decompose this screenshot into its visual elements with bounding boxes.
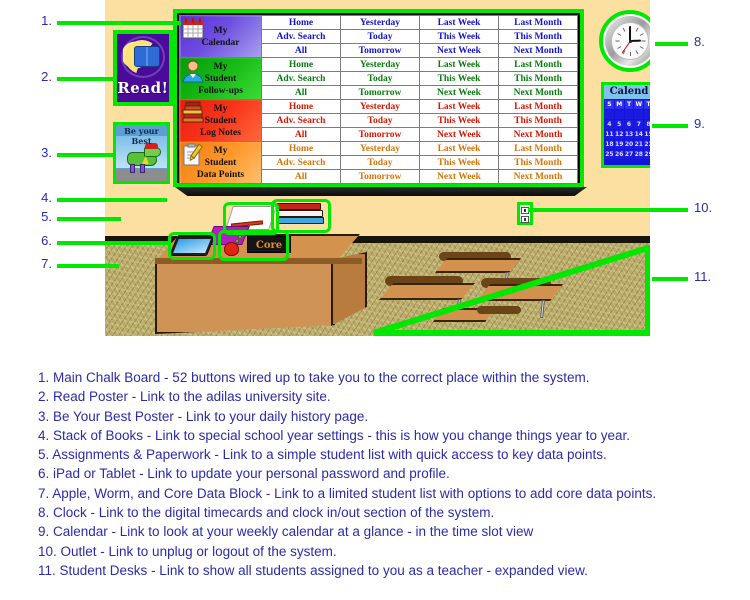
- legend-item-4: 4. Stack of Books - Link to special scho…: [38, 426, 738, 445]
- calendar-day[interactable]: 12: [615, 130, 624, 139]
- board-button-2-2-3[interactable]: This Week: [420, 72, 499, 86]
- chalk-board-button-table: MyCalendarHomeYesterdayLast WeekLast Mon…: [179, 15, 578, 184]
- callout-number-9: 9.: [694, 116, 728, 131]
- board-button-2-2-1[interactable]: Adv. Search: [262, 72, 341, 86]
- classroom-scene: MyCalendarHomeYesterdayLast WeekLast Mon…: [105, 0, 650, 336]
- calendar-day[interactable]: 14: [634, 130, 643, 139]
- moon-book-icon: [123, 38, 163, 76]
- board-row-header-3[interactable]: MyStudentLog Notes: [180, 100, 262, 142]
- board-button-2-3-4[interactable]: Next Month: [499, 86, 578, 100]
- board-button-1-1-4[interactable]: Last Month: [499, 16, 578, 30]
- callout-number-3: 3.: [22, 145, 52, 160]
- apple-worm-core-highlight[interactable]: [218, 230, 289, 261]
- callout-number-8: 8.: [694, 34, 728, 49]
- legend-item-8: 8. Clock - Link to the digital timecards…: [38, 503, 738, 522]
- callout-number-10: 10.: [694, 200, 734, 215]
- board-button-1-2-4[interactable]: This Month: [499, 30, 578, 44]
- student-desks-highlight[interactable]: [370, 245, 650, 336]
- board-button-1-1-1[interactable]: Home: [262, 16, 341, 30]
- board-row-header-2[interactable]: MyStudentFollow-ups: [180, 58, 262, 100]
- crocodile-icon: [125, 143, 163, 173]
- board-button-1-3-4[interactable]: Next Month: [499, 44, 578, 58]
- read-poster[interactable]: Read!: [113, 30, 173, 106]
- outlet-socket-bottom: [521, 216, 529, 223]
- calendar-day[interactable]: 21: [634, 140, 643, 149]
- board-button-3-2-4[interactable]: This Month: [499, 114, 578, 128]
- board-button-3-3-4[interactable]: Next Month: [499, 128, 578, 142]
- main-chalk-board[interactable]: MyCalendarHomeYesterdayLast WeekLast Mon…: [173, 9, 584, 187]
- calendar-dow: S: [605, 100, 614, 109]
- person-icon: [181, 59, 205, 83]
- calendar-day[interactable]: 5: [615, 120, 624, 129]
- calendar-day[interactable]: 22: [644, 140, 650, 149]
- board-row-header-label: MyCalendar: [202, 26, 240, 48]
- leader-line-7: [57, 264, 119, 268]
- board-row-header-label: MyStudentLog Notes: [200, 104, 241, 138]
- calendar-day[interactable]: 29: [644, 150, 650, 159]
- be-your-best-caption: Be your Best: [116, 126, 167, 146]
- board-button-1-2-3[interactable]: This Week: [420, 30, 499, 44]
- board-button-4-2-2[interactable]: Today: [341, 156, 420, 170]
- callout-number-11: 11.: [694, 269, 734, 284]
- calendar-day[interactable]: 13: [625, 130, 634, 139]
- board-button-4-1-3[interactable]: Last Week: [420, 142, 499, 156]
- legend-item-11: 11. Student Desks - Link to show all stu…: [38, 561, 738, 580]
- board-button-1-1-2[interactable]: Yesterday: [341, 16, 420, 30]
- board-button-1-2-1[interactable]: Adv. Search: [262, 30, 341, 44]
- calendar-day[interactable]: 4: [605, 120, 614, 129]
- leader-line-5: [57, 217, 121, 221]
- clock-hour-hand: [630, 40, 641, 42]
- board-button-2-2-2[interactable]: Today: [341, 72, 420, 86]
- clock-minute-hand: [629, 26, 631, 41]
- legend-item-10: 10. Outlet - Link to unplug or logout of…: [38, 542, 738, 561]
- board-button-4-2-4[interactable]: This Month: [499, 156, 578, 170]
- calendar-day[interactable]: 19: [615, 140, 624, 149]
- leader-line-3: [57, 153, 113, 157]
- calendar-day[interactable]: 6: [625, 120, 634, 129]
- board-button-1-1-3[interactable]: Last Week: [420, 16, 499, 30]
- clock-second-hand: [621, 41, 630, 54]
- board-button-1-2-2[interactable]: Today: [341, 30, 420, 44]
- calendar-day[interactable]: [644, 110, 650, 119]
- calendar-day[interactable]: 7: [634, 120, 643, 129]
- leader-line-2: [57, 77, 114, 81]
- legend-item-2: 2. Read Poster - Link to the adilas univ…: [38, 387, 738, 406]
- leader-line-9: [652, 124, 688, 128]
- calendar-day[interactable]: 8: [644, 120, 650, 129]
- board-button-1-3-1[interactable]: All: [262, 44, 341, 58]
- wall-calendar[interactable]: Calend SMTWT4567811121314151819202122252…: [601, 82, 650, 168]
- calendar-day[interactable]: [605, 110, 614, 119]
- legend: 1. Main Chalk Board - 52 buttons wired u…: [38, 368, 738, 580]
- wall-calendar-grid: SMTWT45678111213141518192021222526272829: [604, 99, 650, 160]
- board-button-3-1-4[interactable]: Last Month: [499, 100, 578, 114]
- board-button-2-1-2[interactable]: Yesterday: [341, 58, 420, 72]
- legend-item-6: 6. iPad or Tablet - Link to update your …: [38, 464, 738, 483]
- calendar-day[interactable]: 25: [605, 150, 614, 159]
- board-button-4-3-2[interactable]: Tomorrow: [341, 170, 420, 184]
- legend-item-3: 3. Be Your Best Poster - Link to your da…: [38, 407, 738, 426]
- callout-number-6: 6.: [22, 233, 52, 248]
- callout-number-2: 2.: [22, 69, 52, 84]
- board-button-3-1-2[interactable]: Yesterday: [341, 100, 420, 114]
- callout-number-4: 4.: [22, 190, 52, 205]
- legend-item-1: 1. Main Chalk Board - 52 buttons wired u…: [38, 368, 738, 387]
- calendar-day[interactable]: [634, 110, 643, 119]
- board-button-4-1-1[interactable]: Home: [262, 142, 341, 156]
- board-button-4-2-3[interactable]: This Week: [420, 156, 499, 170]
- leader-line-8: [655, 42, 688, 46]
- calendar-dow: T: [625, 100, 634, 109]
- board-button-4-3-3[interactable]: Next Week: [420, 170, 499, 184]
- leader-line-6: [57, 241, 169, 245]
- board-button-3-1-3[interactable]: Last Week: [420, 100, 499, 114]
- wall-calendar-title: Calend: [604, 85, 650, 99]
- calendar-day[interactable]: 18: [605, 140, 614, 149]
- board-button-3-3-1[interactable]: All: [262, 128, 341, 142]
- leader-line-10: [528, 208, 688, 212]
- callout-number-7: 7.: [22, 256, 52, 271]
- calendar-day[interactable]: 11: [605, 130, 614, 139]
- leader-line-1: [57, 21, 181, 25]
- calendar-day[interactable]: 28: [634, 150, 643, 159]
- board-button-4-2-1[interactable]: Adv. Search: [262, 156, 341, 170]
- board-button-3-2-1[interactable]: Adv. Search: [262, 114, 341, 128]
- board-row-header-4[interactable]: MyStudentData Points: [180, 142, 262, 184]
- calendar-day[interactable]: [615, 110, 624, 119]
- calendar-dow: T: [644, 100, 650, 109]
- calendar-day[interactable]: 27: [625, 150, 634, 159]
- board-button-2-3-3[interactable]: Next Week: [420, 86, 499, 100]
- board-button-1-3-3[interactable]: Next Week: [420, 44, 499, 58]
- calendar-dow: M: [615, 100, 624, 109]
- read-poster-caption: Read!: [117, 79, 169, 97]
- chalk-board-ledge: [175, 187, 587, 196]
- board-button-3-2-3[interactable]: This Week: [420, 114, 499, 128]
- legend-item-5: 5. Assignments & Paperwork - Link to a s…: [38, 445, 738, 464]
- clipboard-pencil-icon: [181, 143, 205, 167]
- board-button-3-1-1[interactable]: Home: [262, 100, 341, 114]
- callout-number-1: 1.: [22, 13, 52, 28]
- calendar-icon: [181, 17, 205, 41]
- board-button-4-1-2[interactable]: Yesterday: [341, 142, 420, 156]
- classroom-dashboard-page: MyCalendarHomeYesterdayLast WeekLast Mon…: [0, 0, 750, 600]
- board-button-2-2-4[interactable]: This Month: [499, 72, 578, 86]
- books-icon: [181, 101, 205, 125]
- board-row-header-1[interactable]: MyCalendar: [180, 16, 262, 58]
- stack-of-books-highlight[interactable]: [271, 199, 331, 233]
- board-button-3-2-2[interactable]: Today: [341, 114, 420, 128]
- calendar-day[interactable]: 20: [625, 140, 634, 149]
- board-button-2-1-4[interactable]: Last Month: [499, 58, 578, 72]
- clock-center-pin: [629, 40, 632, 43]
- board-button-2-3-1[interactable]: All: [262, 86, 341, 100]
- leader-line-11: [652, 277, 688, 281]
- board-button-2-1-1[interactable]: Home: [262, 58, 341, 72]
- power-outlet[interactable]: [517, 202, 533, 225]
- board-button-1-3-2[interactable]: Tomorrow: [341, 44, 420, 58]
- board-button-4-3-4[interactable]: Next Month: [499, 170, 578, 184]
- board-button-2-3-2[interactable]: Tomorrow: [341, 86, 420, 100]
- legend-item-7: 7. Apple, Worm, and Core Data Block - Li…: [38, 484, 738, 503]
- board-button-4-3-1[interactable]: All: [262, 170, 341, 184]
- ipad-tablet-highlight[interactable]: [168, 232, 216, 260]
- board-button-3-3-3[interactable]: Next Week: [420, 128, 499, 142]
- clock-face: [611, 22, 649, 60]
- calendar-day[interactable]: 26: [615, 150, 624, 159]
- leader-line-4: [57, 198, 167, 202]
- callout-number-5: 5.: [22, 209, 52, 224]
- calendar-day[interactable]: [625, 110, 634, 119]
- board-button-4-1-4[interactable]: Last Month: [499, 142, 578, 156]
- be-your-best-poster[interactable]: Be your Best: [113, 122, 170, 184]
- legend-item-9: 9. Calendar - Link to look at your weekl…: [38, 522, 738, 541]
- board-button-2-1-3[interactable]: Last Week: [420, 58, 499, 72]
- calendar-day[interactable]: 15: [644, 130, 650, 139]
- calendar-dow: W: [634, 100, 643, 109]
- board-button-3-3-2[interactable]: Tomorrow: [341, 128, 420, 142]
